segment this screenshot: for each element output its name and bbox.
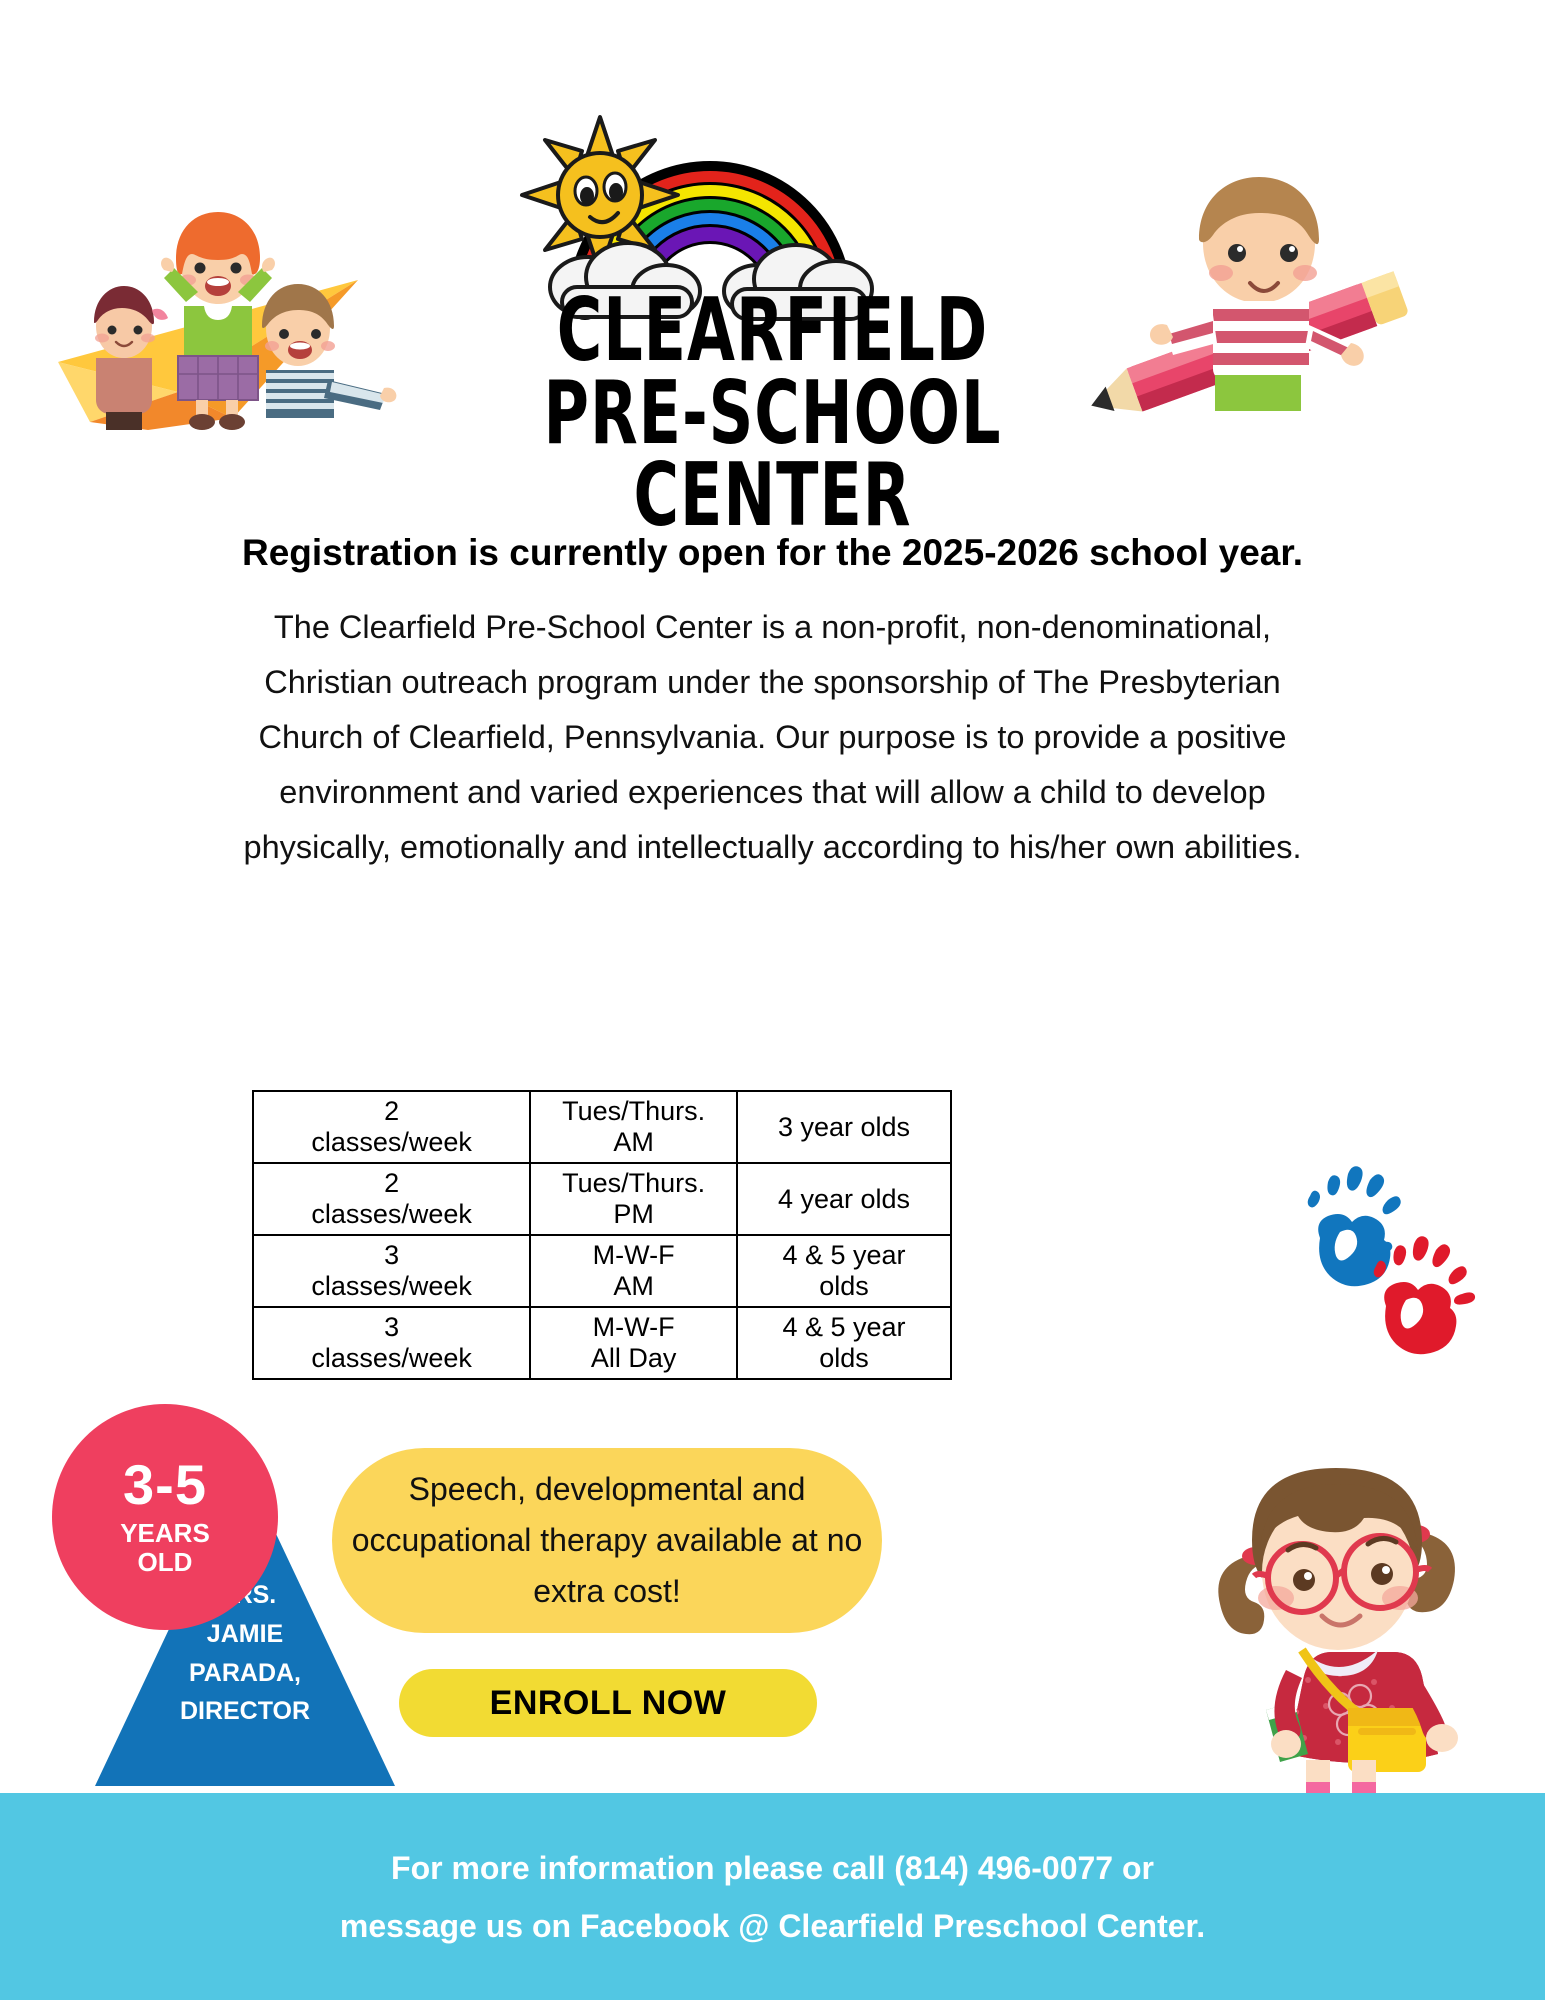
enroll-now-button[interactable]: ENROLL NOW <box>399 1669 817 1737</box>
cell-days: Tues/Thurs.PM <box>530 1163 737 1235</box>
cell-days: Tues/Thurs.AM <box>530 1091 737 1163</box>
cell-ages: 4 year olds <box>737 1163 951 1235</box>
table-row: 2classes/week Tues/Thurs.AM 3 year olds <box>253 1091 951 1163</box>
logo-wordmark: CLEARFIELD PRE-SCHOOL CENTER <box>46 290 1498 538</box>
about-paragraph: The Clearfield Pre-School Center is a no… <box>0 600 1545 875</box>
cell-ages: 3 year olds <box>737 1091 951 1163</box>
logo-line-3: CENTER <box>46 455 1498 538</box>
therapy-callout: Speech, developmental and occupational t… <box>332 1448 882 1633</box>
hero-banner: CLEARFIELD PRE-SCHOOL CENTER <box>0 0 1545 520</box>
contact-footer: For more information please call (814) 4… <box>0 1793 1545 2000</box>
enroll-now-label: ENROLL NOW <box>490 1684 727 1723</box>
therapy-callout-text: Speech, developmental and occupational t… <box>332 1464 882 1617</box>
girl-with-glasses-illustration <box>1190 1430 1490 1820</box>
table-row: 3classes/week M-W-FAM 4 & 5 yearolds <box>253 1235 951 1307</box>
cell-days: M-W-FAll Day <box>530 1307 737 1379</box>
table-row: 3classes/week M-W-FAll Day 4 & 5 yearold… <box>253 1307 951 1379</box>
cell-frequency: 3classes/week <box>253 1307 530 1379</box>
about-line: physically, emotionally and intellectual… <box>0 820 1545 875</box>
about-line: The Clearfield Pre-School Center is a no… <box>0 600 1545 655</box>
about-line: environment and varied experiences that … <box>0 765 1545 820</box>
cell-ages: 4 & 5 yearolds <box>737 1235 951 1307</box>
age-range-badge: 3-5 YEARSOLD <box>52 1404 278 1630</box>
cell-frequency: 2classes/week <box>253 1163 530 1235</box>
cell-ages: 4 & 5 yearolds <box>737 1307 951 1379</box>
footer-line-2: message us on Facebook @ Clearfield Pres… <box>340 1897 1205 1955</box>
class-schedule-table: 2classes/week Tues/Thurs.AM 3 year olds … <box>252 1090 952 1380</box>
cell-frequency: 2classes/week <box>253 1091 530 1163</box>
registration-headline: Registration is currently open for the 2… <box>0 532 1545 574</box>
about-line: Christian outreach program under the spo… <box>0 655 1545 710</box>
handprints-icon <box>1282 1160 1482 1360</box>
footer-line-1: For more information please call (814) 4… <box>391 1839 1154 1897</box>
table-row: 2classes/week Tues/Thurs.PM 4 year olds <box>253 1163 951 1235</box>
cell-days: M-W-FAM <box>530 1235 737 1307</box>
logo-line-2: PRE-SCHOOL <box>46 373 1498 456</box>
age-range-value: 3-5 <box>123 1457 207 1513</box>
logo-line-1: CLEARFIELD <box>46 290 1498 373</box>
cell-frequency: 3classes/week <box>253 1235 530 1307</box>
age-range-unit: YEARSOLD <box>120 1519 210 1577</box>
about-line: Church of Clearfield, Pennsylvania. Our … <box>0 710 1545 765</box>
